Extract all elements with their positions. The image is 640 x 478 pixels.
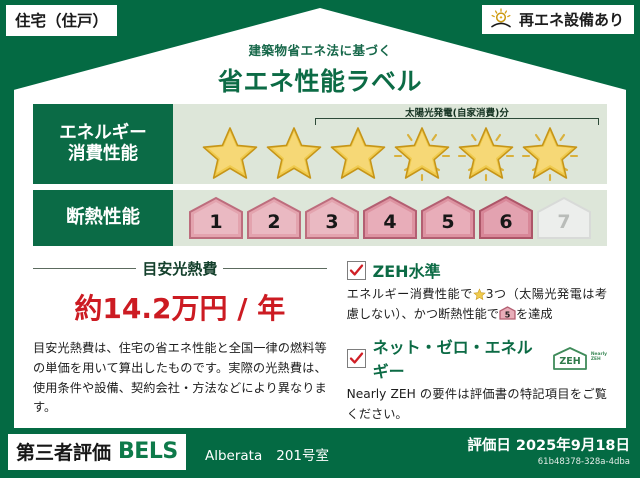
insulation-level-1-label: 1: [209, 211, 222, 240]
insulation-level-3-label: 3: [325, 211, 338, 240]
renewable-badge-label: 再エネ設備あり: [519, 9, 624, 30]
insulation-performance-row: 断熱性能 1 2 3 4: [33, 190, 607, 246]
svg-text:5: 5: [505, 310, 511, 319]
solar-annotation-label: 太陽光発電(自家消費)分: [313, 105, 601, 119]
zeh-body-part1: エネルギー消費性能で: [347, 287, 473, 301]
insulation-level-scale: 1 2 3 4 5: [173, 190, 607, 246]
insulation-level-3: 3: [304, 196, 360, 240]
insulation-level-4-label: 4: [383, 211, 396, 240]
sun-icon: [489, 8, 513, 30]
insulation-level-7-label: 7: [557, 211, 570, 240]
svg-text:ZEH: ZEH: [559, 356, 580, 367]
bels-jp-label: 第三者評価: [16, 438, 111, 465]
detail-content: 目安光熱費 約14.2万円 / 年 目安光熱費は、住宅の省エネ性能と全国一律の燃…: [33, 258, 607, 424]
net-zero-checkbox[interactable]: [347, 349, 366, 368]
page-title: 省エネ性能ラベル: [0, 62, 640, 98]
insulation-level-6: 6: [478, 196, 534, 240]
cost-heading: 目安光熱費: [33, 258, 327, 279]
net-zero-body: Nearly ZEH の要件は評価書の特記項目をご覧ください。: [347, 385, 607, 424]
label-footer: 第三者評価 BELS Alberata 201号室 評価日 2025年9月18日…: [0, 432, 640, 472]
building-name: Alberata: [205, 448, 262, 464]
inline-star-icon: [473, 287, 486, 300]
zeh-body-star-count: 3つ（太陽光発電: [486, 287, 582, 301]
star-rating: [173, 122, 607, 182]
insulation-level-5: 5: [420, 196, 476, 240]
energy-performance-row: エネルギー 消費性能 太陽光発電(自家消費)分: [33, 104, 607, 184]
star-5-solar: [455, 123, 517, 181]
building-info: Alberata 201号室: [205, 444, 329, 464]
cost-note: 目安光熱費は、住宅の省エネ性能と全国一律の燃料等の単価を用いて算出したものです。…: [33, 339, 327, 418]
energy-performance-caption: エネルギー 消費性能: [33, 104, 173, 184]
zeh-standard-header: ZEH水準: [347, 258, 607, 282]
bels-en-label: BELS: [118, 439, 178, 464]
energy-performance-value: 太陽光発電(自家消費)分: [173, 104, 607, 184]
cost-heading-label: 目安光熱費: [142, 258, 217, 279]
label-header: 建築物省エネ法に基づく 省エネ性能ラベル: [0, 40, 640, 98]
evaluation-info: 評価日 2025年9月18日 61b48378-328a-4dba: [467, 434, 630, 467]
cost-rule-right: [223, 268, 326, 269]
energy-caption-line2: 消費性能: [68, 144, 138, 164]
room-number: 201号室: [276, 444, 329, 464]
star-1: [199, 123, 261, 181]
insulation-level-2: 2: [246, 196, 302, 240]
star-3: [327, 123, 389, 181]
cost-rule-left: [33, 268, 136, 269]
insulation-level-2-label: 2: [267, 211, 280, 240]
zeh-logo-icon: ZEH Nearly ZEH: [551, 346, 607, 371]
certification-section: ZEH水準 エネルギー消費性能で3つ（太陽光発電は考慮しない）、かつ断熱性能で5…: [335, 258, 607, 424]
bels-badge: 第三者評価 BELS: [8, 434, 186, 470]
energy-caption-line1: エネルギー: [59, 123, 147, 143]
cost-value: 約14.2万円 / 年: [33, 287, 327, 327]
net-zero-header: ネット・ゼロ・エネルギー ZEH Nearly ZEH: [347, 334, 607, 382]
zeh-body-part3: を達成: [516, 307, 553, 321]
star-6-solar: [519, 123, 581, 181]
rating-rows: エネルギー 消費性能 太陽光発電(自家消費)分: [33, 104, 607, 252]
insulation-performance-value: 1 2 3 4 5: [173, 190, 607, 246]
insulation-level-1: 1: [188, 196, 244, 240]
inline-insulation-badge: 5: [499, 306, 516, 320]
cost-section: 目安光熱費 約14.2万円 / 年 目安光熱費は、住宅の省エネ性能と全国一律の燃…: [33, 258, 335, 424]
dwelling-type-badge: 住宅（住戸）: [6, 5, 117, 36]
evaluation-id: 61b48378-328a-4dba: [467, 457, 630, 467]
renewable-energy-badge: 再エネ設備あり: [482, 5, 634, 34]
net-zero-title: ネット・ゼロ・エネルギー: [373, 334, 540, 382]
zeh-logo-sub-line2: ZEH: [591, 358, 607, 363]
header-subtitle: 建築物省エネ法に基づく: [0, 40, 640, 59]
evaluation-date: 評価日 2025年9月18日: [467, 434, 630, 455]
zeh-standard-checkbox[interactable]: [347, 261, 366, 280]
insulation-level-5-label: 5: [441, 211, 454, 240]
insulation-level-4: 4: [362, 196, 418, 240]
insulation-performance-caption: 断熱性能: [33, 190, 173, 246]
zeh-standard-body: エネルギー消費性能で3つ（太陽光発電は考慮しない）、かつ断熱性能で5を達成: [347, 285, 607, 324]
zeh-standard-title: ZEH水準: [373, 258, 441, 282]
insulation-level-6-label: 6: [499, 211, 512, 240]
zeh-logo-sub: Nearly ZEH: [591, 353, 607, 362]
star-2: [263, 123, 325, 181]
star-4-solar: [391, 123, 453, 181]
insulation-level-7: 7: [536, 196, 592, 240]
